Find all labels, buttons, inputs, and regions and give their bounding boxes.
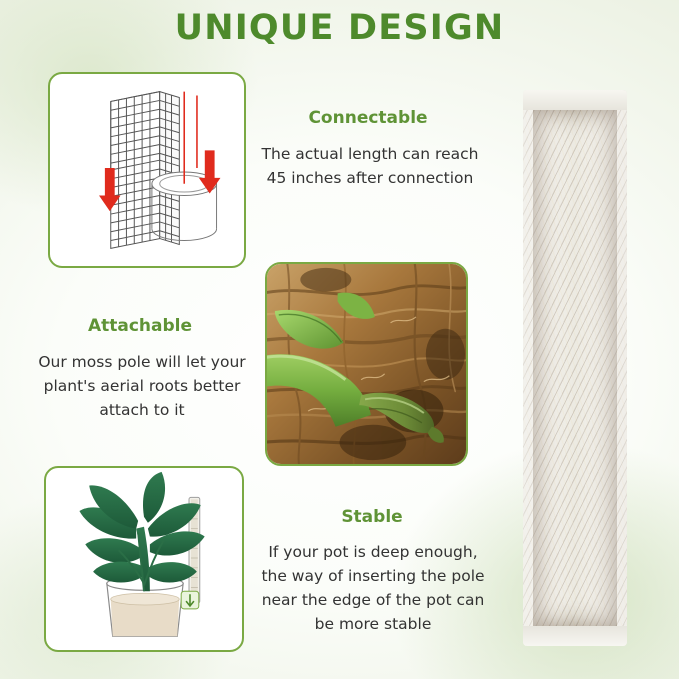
plant-in-pot-diagram-icon: [46, 468, 242, 650]
attachable-heading: Attachable: [30, 316, 250, 336]
plant-in-pot-diagram-panel: [44, 466, 244, 652]
coir-moss-pole-photo: [523, 90, 627, 646]
connectable-body: The actual length can reach 45 inches af…: [236, 142, 504, 190]
connectable-heading: Connectable: [258, 108, 478, 128]
sleeve-top-cap: [523, 90, 627, 110]
sleeve-bottom-cap: [523, 626, 627, 646]
connectable-diagram-panel: [48, 72, 246, 268]
page-title: UNIQUE DESIGN: [0, 8, 679, 48]
sleeve-gloss: [523, 90, 627, 646]
attachable-body: Our moss pole will let your plant's aeri…: [16, 350, 268, 422]
stable-heading: Stable: [268, 507, 476, 527]
insertion-arrow: [181, 591, 199, 609]
aerial-root-photo-panel: [265, 262, 468, 466]
moss-pole-image: [523, 90, 627, 646]
stable-body: If your pot is deep enough, the way of i…: [228, 540, 518, 636]
connectable-poles-diagram-icon: [50, 74, 244, 266]
product-infographic: UNIQUE DESIGN: [0, 0, 679, 679]
aerial-root-photo: [267, 264, 466, 464]
